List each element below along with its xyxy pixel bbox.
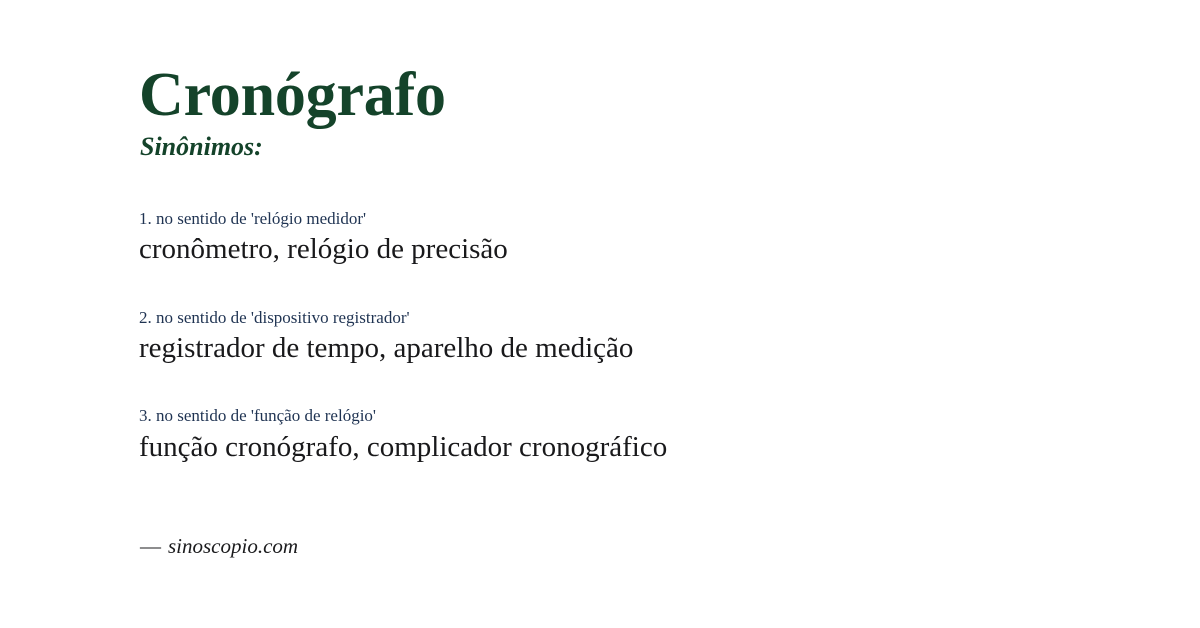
page-title: Cronógrafo (139, 64, 446, 126)
sense-label-2: 2. no sentido de 'dispositivo registrado… (139, 307, 1139, 328)
sense-label-3: 3. no sentido de 'função de relógio' (139, 405, 1139, 426)
synonym-card: Cronógrafo Sinônimos: 1. no sentido de '… (0, 0, 1200, 628)
subtitle-synonyms: Sinônimos: (140, 133, 263, 162)
sense-entry-1: 1. no sentido de 'relógio medidor' cronô… (139, 208, 1139, 268)
em-dash-icon: — (140, 534, 168, 558)
attribution: —sinoscopio.com (140, 534, 298, 559)
sense-synonyms-3: função cronógrafo, complicador cronográf… (139, 430, 1139, 465)
sense-list: 1. no sentido de 'relógio medidor' cronô… (139, 208, 1139, 465)
sense-synonyms-2: registrador de tempo, aparelho de mediçã… (139, 331, 1139, 366)
sense-synonyms-1: cronômetro, relógio de precisão (139, 232, 1139, 267)
sense-label-1: 1. no sentido de 'relógio medidor' (139, 208, 1139, 229)
attribution-source: sinoscopio.com (168, 534, 298, 558)
sense-entry-2: 2. no sentido de 'dispositivo registrado… (139, 307, 1139, 367)
sense-entry-3: 3. no sentido de 'função de relógio' fun… (139, 405, 1139, 465)
